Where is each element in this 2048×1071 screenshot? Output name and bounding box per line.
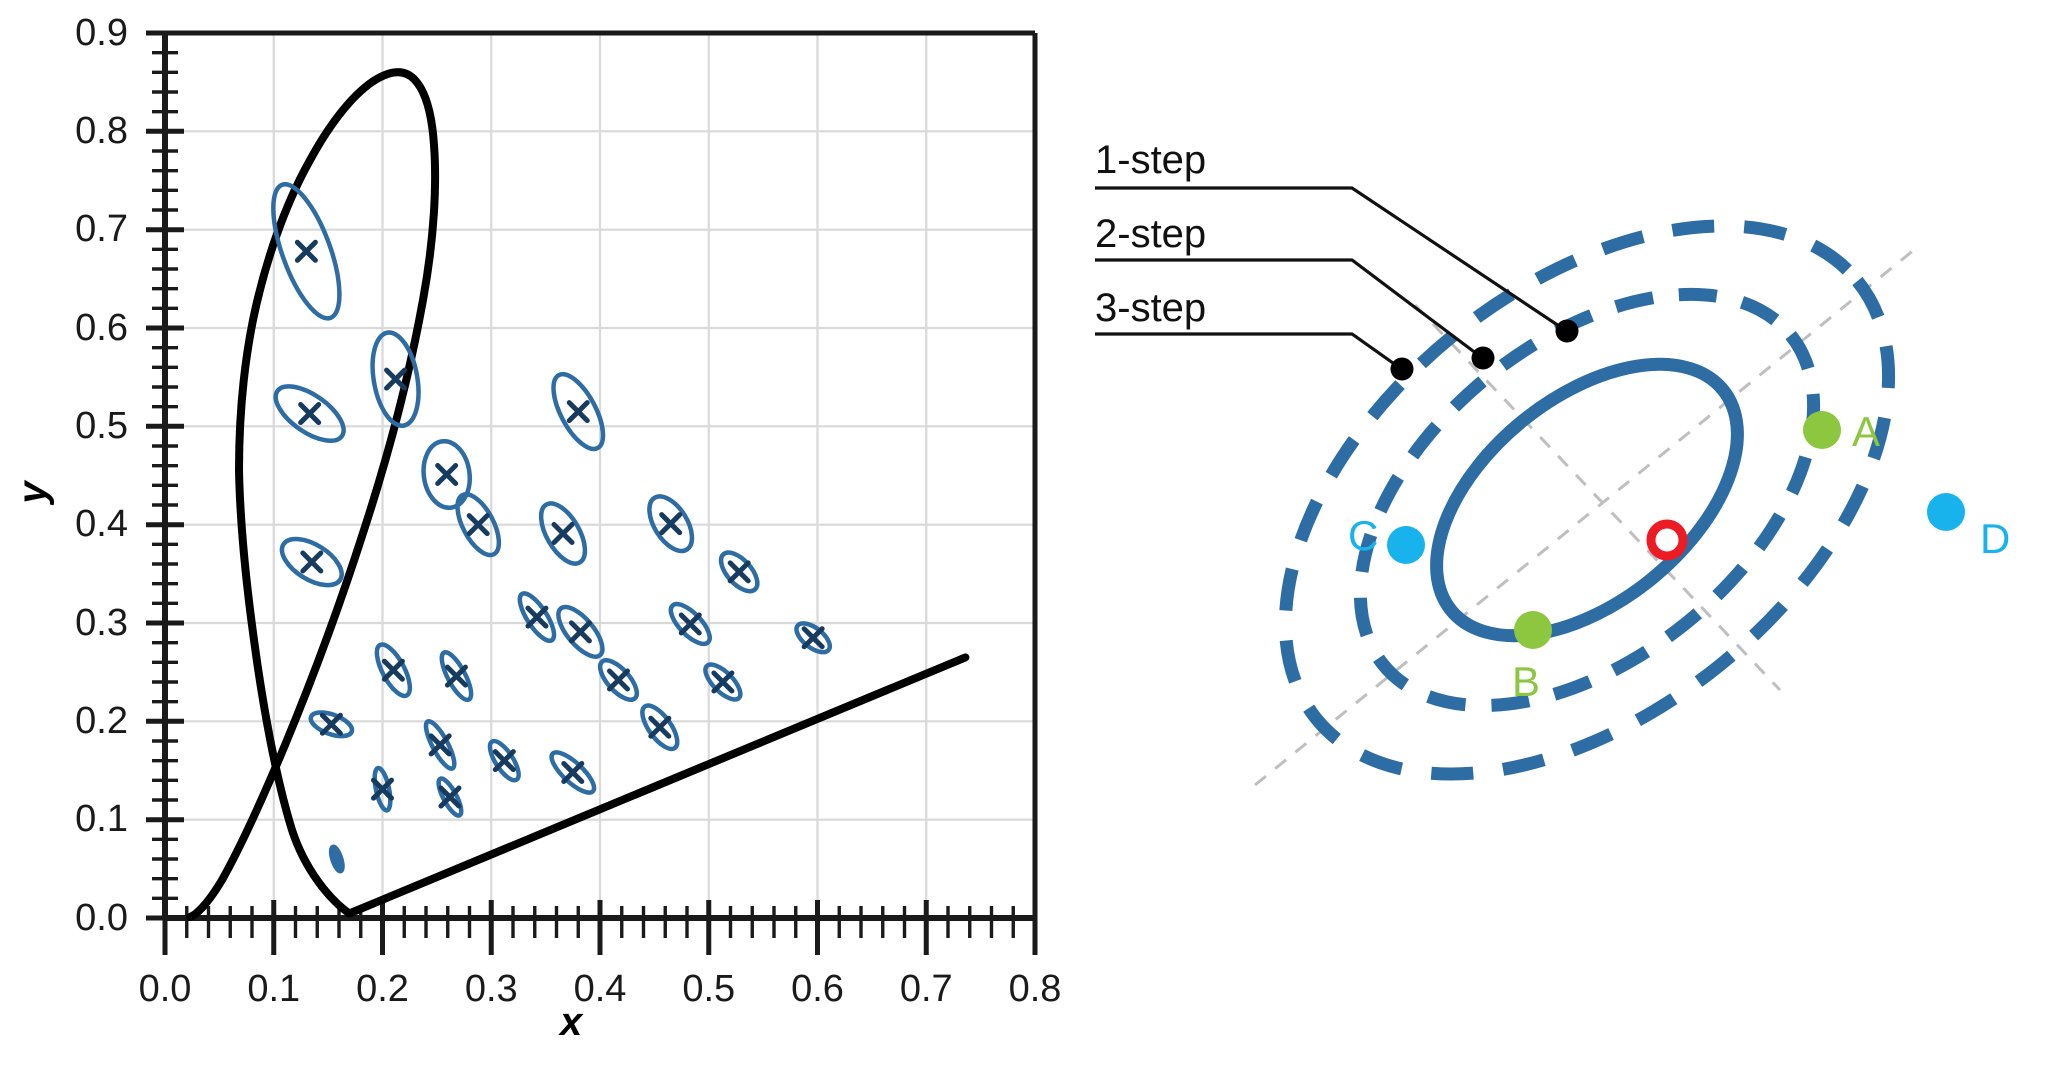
ellipse-3-step [1183, 116, 1991, 884]
x-tick-0.3: 0.3 [446, 968, 536, 1011]
x-axis-ticks [165, 900, 1035, 955]
point-A-label: A [1852, 408, 1880, 456]
point-D-label: D [1980, 515, 2010, 563]
point-B-marker[interactable] [1514, 611, 1552, 649]
y-tick-0.7: 0.7 [36, 208, 128, 251]
y-tick-0.8: 0.8 [36, 110, 128, 153]
macadam-center-marker [609, 671, 627, 689]
ellipse-2-step [1284, 212, 1890, 787]
x-tick-0.8: 0.8 [990, 968, 1080, 1011]
leader-line-3-step [1095, 334, 1400, 368]
macadam-center-marker [387, 370, 405, 388]
macadam-center-marker [297, 242, 315, 260]
chromaticity-chart-svg [0, 0, 1100, 1071]
point-B-label: B [1512, 658, 1540, 706]
x-tick-0.6: 0.6 [773, 968, 863, 1011]
macadam-center-marker [495, 752, 513, 770]
callout-label-3-step: 3-step [1095, 286, 1206, 331]
y-tick-0.2: 0.2 [36, 700, 128, 743]
macadam-center-marker [384, 661, 402, 679]
purple-line [349, 657, 965, 913]
macadam-center-marker [303, 553, 321, 571]
figure-root: 0.9 0.8 0.7 0.6 0.5 0.4 0.3 0.2 0.1 0.0 … [0, 0, 2048, 1071]
macadam-center-marker [322, 715, 340, 733]
leader-dot-2-step [1472, 347, 1495, 370]
macadam-center-marker [438, 466, 456, 484]
y-tick-0.0: 0.0 [36, 897, 128, 940]
macadam-center-marker [554, 525, 572, 543]
macadam-ellipse [329, 845, 345, 872]
x-tick-0.7: 0.7 [881, 968, 971, 1011]
x-tick-0.2: 0.2 [338, 968, 428, 1011]
callout-label-1-step: 1-step [1095, 138, 1206, 183]
macadam-center-marker [564, 763, 582, 781]
x-tick-0.0: 0.0 [120, 968, 210, 1011]
point-D-marker[interactable] [1927, 493, 1965, 531]
y-tick-0.3: 0.3 [36, 602, 128, 645]
x-tick-0.1: 0.1 [229, 968, 319, 1011]
y-tick-0.1: 0.1 [36, 798, 128, 841]
macadam-center-marker [447, 667, 465, 685]
macadam-center-marker [714, 673, 732, 691]
step-ellipse-svg [1090, 0, 2048, 1071]
point-C-marker[interactable] [1387, 526, 1425, 564]
chromaticity-diagram-panel: 0.9 0.8 0.7 0.6 0.5 0.4 0.3 0.2 0.1 0.0 … [0, 0, 1100, 1071]
macadam-center-marker [730, 563, 748, 581]
y-tick-0.5: 0.5 [36, 405, 128, 448]
y-tick-0.6: 0.6 [36, 307, 128, 350]
step-ellipse-panel: 1-step 2-step 3-step A B C D [1090, 0, 2048, 1071]
macadam-center-marker [804, 629, 822, 647]
y-axis-title: y [11, 481, 56, 503]
callout-label-2-step: 2-step [1095, 212, 1206, 257]
macadam-center-marker [569, 403, 587, 421]
target-center-ring [1651, 524, 1683, 556]
point-C-label: C [1348, 512, 1378, 560]
y-tick-0.9: 0.9 [36, 12, 128, 55]
spectral-locus-curve [190, 72, 435, 917]
leader-dot-3-step [1391, 358, 1414, 381]
leader-dot-1-step [1556, 320, 1579, 343]
macadam-center-marker [301, 405, 319, 423]
x-axis-title: x [560, 1000, 582, 1045]
point-A-marker[interactable] [1803, 411, 1841, 449]
macadam-center-marker [571, 623, 589, 641]
x-tick-0.5: 0.5 [664, 968, 754, 1011]
y-tick-0.4: 0.4 [36, 503, 128, 546]
leader-dots [1391, 320, 1579, 381]
